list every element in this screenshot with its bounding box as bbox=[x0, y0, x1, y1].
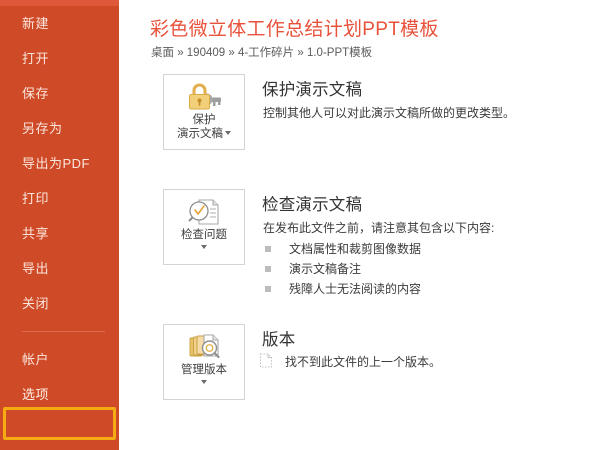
protect-button-label-line1: 保护 bbox=[164, 113, 244, 127]
sidebar-nav-list: 新建 打开 保存 另存为 导出为PDF 打印 共享 导出 bbox=[0, 6, 119, 412]
protect-presentation-button[interactable]: 保护 演示文稿 bbox=[163, 74, 245, 150]
lock-key-icon bbox=[164, 75, 244, 113]
list-item-label: 文档属性和裁剪图像数据 bbox=[289, 242, 421, 256]
sidebar-item-print[interactable]: 打印 bbox=[0, 181, 119, 216]
sidebar-item-new[interactable]: 新建 bbox=[0, 6, 119, 41]
manage-versions-button[interactable]: 管理版本 bbox=[163, 324, 245, 400]
list-item: 残障人士无法阅读的内容 bbox=[263, 279, 421, 299]
sidebar-item-label: 打开 bbox=[22, 51, 49, 66]
sidebar-item-label: 选项 bbox=[22, 387, 49, 402]
bullet-square-icon bbox=[265, 266, 271, 272]
sidebar-item-label: 关闭 bbox=[22, 296, 49, 311]
sidebar-item-label: 新建 bbox=[22, 16, 49, 31]
sidebar-item-account[interactable]: 帐户 bbox=[0, 342, 119, 377]
version-note-text: 找不到此文件的上一个版本。 bbox=[285, 353, 441, 370]
sidebar-item-label: 另存为 bbox=[22, 121, 63, 136]
list-item: 演示文稿备注 bbox=[263, 259, 421, 279]
inspect-section-description: 在发布此文件之前，请注意其包含以下内容: bbox=[263, 219, 494, 236]
chevron-down-icon[interactable] bbox=[201, 245, 207, 249]
sidebar-item-label: 打印 bbox=[22, 191, 49, 206]
page-title: 彩色微立体工作总结计划PPT模板 bbox=[150, 14, 439, 41]
breadcrumb: 桌面 » 190409 » 4-工作碎片 » 1.0-PPT模板 bbox=[151, 44, 372, 60]
chevron-down-icon[interactable] bbox=[201, 380, 207, 384]
sidebar-item-save[interactable]: 保存 bbox=[0, 76, 119, 111]
version-note: 找不到此文件的上一个版本。 bbox=[259, 353, 273, 371]
bullet-square-icon bbox=[265, 246, 271, 252]
list-item-label: 残障人士无法阅读的内容 bbox=[289, 282, 421, 296]
sidebar-item-label: 帐户 bbox=[22, 352, 49, 367]
sidebar-item-export[interactable]: 导出 bbox=[0, 251, 119, 286]
inspect-section-heading: 检查演示文稿 bbox=[262, 191, 362, 215]
sidebar-item-label: 保存 bbox=[22, 86, 49, 101]
version-section-heading: 版本 bbox=[262, 326, 295, 350]
protect-button-label-line2: 演示文稿 bbox=[164, 127, 244, 141]
protect-section-description: 控制其他人可以对此演示文稿所做的更改类型。 bbox=[263, 104, 515, 121]
documents-search-icon bbox=[164, 325, 244, 363]
chevron-down-icon[interactable] bbox=[225, 131, 231, 135]
sidebar-item-share[interactable]: 共享 bbox=[0, 216, 119, 251]
check-issues-button-label: 检查问题 bbox=[164, 228, 244, 242]
sidebar-divider bbox=[22, 331, 105, 332]
manage-versions-button-label: 管理版本 bbox=[164, 363, 244, 377]
sidebar-item-label: 导出为PDF bbox=[22, 156, 90, 171]
sidebar-item-export-pdf[interactable]: 导出为PDF bbox=[0, 146, 119, 181]
sidebar-item-options[interactable]: 选项 bbox=[0, 377, 119, 412]
document-outline-icon bbox=[259, 357, 273, 371]
sidebar-item-label: 导出 bbox=[22, 261, 49, 276]
inspect-issue-list: 文档属性和裁剪图像数据 演示文稿备注 残障人士无法阅读的内容 bbox=[263, 239, 421, 299]
list-item-label: 演示文稿备注 bbox=[289, 262, 361, 276]
sidebar-item-label: 共享 bbox=[22, 226, 49, 241]
list-item: 文档属性和裁剪图像数据 bbox=[263, 239, 421, 259]
backstage-sidebar: 新建 打开 保存 另存为 导出为PDF 打印 共享 导出 bbox=[0, 0, 119, 450]
sidebar-item-save-as[interactable]: 另存为 bbox=[0, 111, 119, 146]
powerpoint-backstage-info-screen: 新建 打开 保存 另存为 导出为PDF 打印 共享 导出 bbox=[0, 0, 600, 450]
sidebar-item-close[interactable]: 关闭 bbox=[0, 286, 119, 321]
document-check-icon bbox=[164, 190, 244, 228]
sidebar-item-open[interactable]: 打开 bbox=[0, 41, 119, 76]
bullet-square-icon bbox=[265, 286, 271, 292]
check-for-issues-button[interactable]: 检查问题 bbox=[163, 189, 245, 265]
protect-section-heading: 保护演示文稿 bbox=[262, 76, 362, 100]
backstage-content: 彩色微立体工作总结计划PPT模板 桌面 » 190409 » 4-工作碎片 » … bbox=[119, 0, 600, 450]
